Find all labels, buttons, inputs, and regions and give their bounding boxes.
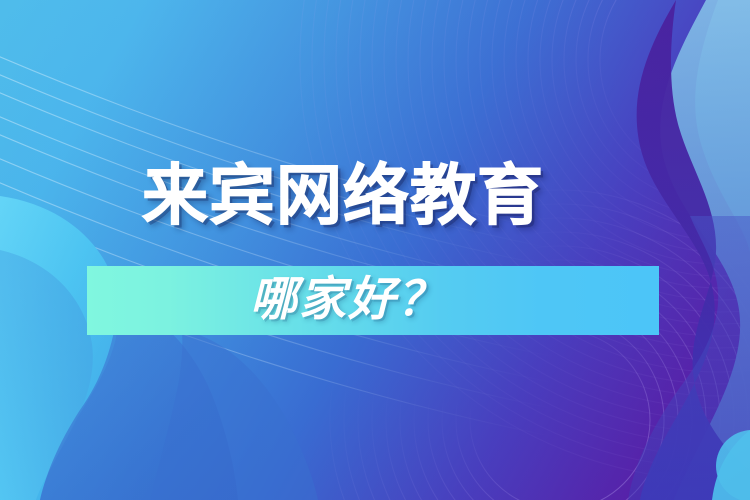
headline-title: 来宾网络教育	[142, 157, 544, 234]
tonal-blend-overlay	[0, 0, 750, 500]
promo-banner: 来宾网络教育 哪家好？	[0, 0, 750, 500]
subtitle-banner-bar: 哪家好？	[87, 266, 659, 335]
subtitle-text: 哪家好？	[250, 264, 446, 333]
